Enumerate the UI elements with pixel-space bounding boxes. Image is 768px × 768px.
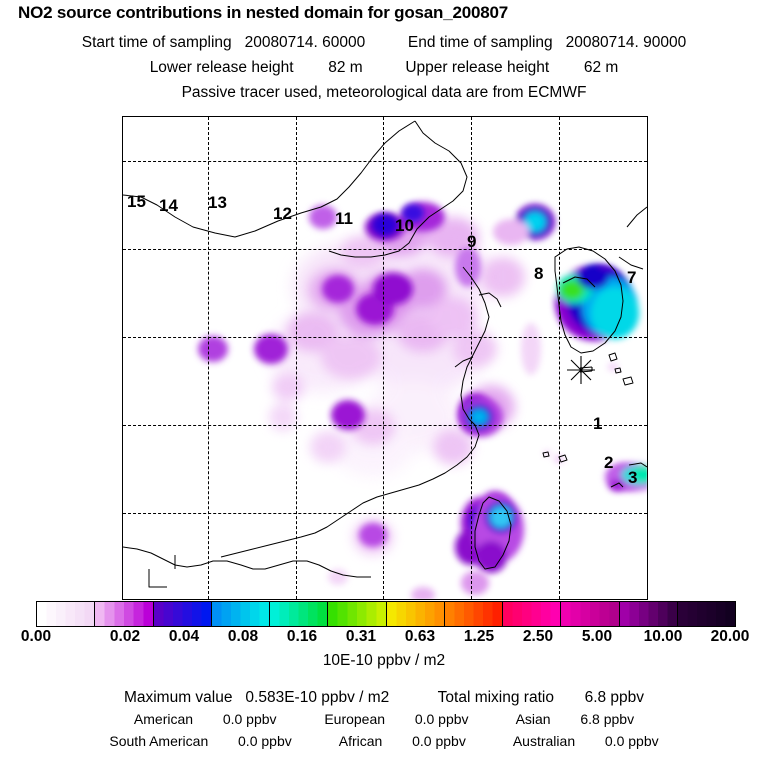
colorbar-segment-12 (678, 602, 735, 626)
region-label-14: 14 (159, 197, 178, 214)
european-value: 0.0 ppbv (415, 711, 469, 727)
region-label-10: 10 (395, 217, 414, 234)
colorbar-segment-9 (503, 602, 561, 626)
region-label-3: 3 (628, 469, 637, 486)
map-panel[interactable]: 15 14 13 12 11 10 9 8 7 1 2 3 (122, 116, 648, 600)
page-title: NO2 source contributions in nested domai… (18, 3, 508, 23)
south-american-value: 0.0 ppbv (238, 733, 292, 749)
colorbar-tick-1: 0.02 (110, 628, 140, 646)
total-mixing-ratio-label: Total mixing ratio (438, 689, 554, 706)
asian-label: Asian (516, 711, 551, 727)
colorbar-tick-5: 0.31 (346, 628, 376, 646)
end-time-value: 20080714. 90000 (566, 34, 687, 51)
region-label-9: 9 (467, 233, 476, 250)
colorbar-segment-4 (212, 602, 270, 626)
max-value-label: Maximum value (124, 689, 233, 706)
colorbar-unit-label: 10E-10 ppbv / m2 (0, 652, 768, 670)
colorbar-tick-8: 2.50 (523, 628, 553, 646)
african-value: 0.0 ppbv (412, 733, 466, 749)
colorbar-segment-2 (95, 602, 153, 626)
region-label-2: 2 (604, 454, 613, 471)
colorbar-tick-7: 1.25 (464, 628, 494, 646)
asian-value: 6.8 ppbv (580, 711, 634, 727)
colorbar-segment-6 (328, 602, 386, 626)
colorbar-tick-2: 0.04 (169, 628, 199, 646)
region-label-1: 1 (593, 415, 602, 432)
colorbar (36, 601, 736, 627)
max-value: 0.583E-10 ppbv / m2 (245, 689, 389, 706)
region-label-13: 13 (208, 194, 227, 211)
australian-value: 0.0 ppbv (605, 733, 659, 749)
region-label-15: 15 (127, 193, 146, 210)
colorbar-tick-3: 0.08 (228, 628, 258, 646)
colorbar-tick-4: 0.16 (287, 628, 317, 646)
contribution-row-2: South American 0.0 ppbv African 0.0 ppbv… (0, 733, 768, 749)
colorbar-segment-10 (561, 602, 619, 626)
colorbar-segment-7 (387, 602, 445, 626)
colorbar-tick-9: 5.00 (582, 628, 612, 646)
american-label: American (134, 711, 193, 727)
summary-line: Maximum value 0.583E-10 ppbv / m2 Total … (0, 689, 768, 707)
region-label-11: 11 (335, 210, 353, 227)
tracer-note: Passive tracer used, meteorological data… (0, 84, 768, 102)
upper-release-label: Upper release height (405, 59, 549, 76)
colorbar-segment-11 (620, 602, 678, 626)
figure-root: NO2 source contributions in nested domai… (0, 0, 768, 768)
start-time-label: Start time of sampling (82, 34, 232, 51)
start-time-value: 20080714. 60000 (245, 34, 366, 51)
lower-release-label: Lower release height (150, 59, 294, 76)
release-height-line: Lower release height 82 m Upper release … (0, 59, 768, 77)
upper-release-value: 62 m (584, 59, 618, 76)
region-label-12: 12 (273, 205, 292, 222)
australian-label: Australian (513, 733, 575, 749)
south-american-label: South American (109, 733, 208, 749)
colorbar-tick-0: 0.00 (21, 628, 51, 646)
colorbar-segment-5 (270, 602, 328, 626)
receptor-site-marker (566, 355, 596, 385)
region-label-8: 8 (534, 265, 543, 282)
total-mixing-ratio-value: 6.8 ppbv (585, 689, 644, 706)
colorbar-segment-3 (154, 602, 212, 626)
region-label-layer: 15 14 13 12 11 10 9 8 7 1 2 3 (123, 117, 647, 599)
colorbar-tick-6: 0.63 (405, 628, 435, 646)
colorbar-segment-1 (37, 602, 95, 626)
european-label: European (324, 711, 385, 727)
colorbar-segment-8 (445, 602, 503, 626)
region-label-7: 7 (627, 269, 636, 286)
colorbar-tick-11: 20.00 (711, 628, 750, 646)
end-time-label: End time of sampling (408, 34, 553, 51)
colorbar-tick-labels: 0.00 0.02 0.04 0.08 0.16 0.31 0.63 1.25 … (0, 628, 768, 650)
contribution-row-1: American 0.0 ppbv European 0.0 ppbv Asia… (0, 711, 768, 727)
lower-release-value: 82 m (328, 59, 362, 76)
african-label: African (339, 733, 383, 749)
american-value: 0.0 ppbv (223, 711, 277, 727)
sampling-time-line: Start time of sampling 20080714. 60000 E… (0, 34, 768, 52)
colorbar-tick-10: 10.00 (644, 628, 683, 646)
